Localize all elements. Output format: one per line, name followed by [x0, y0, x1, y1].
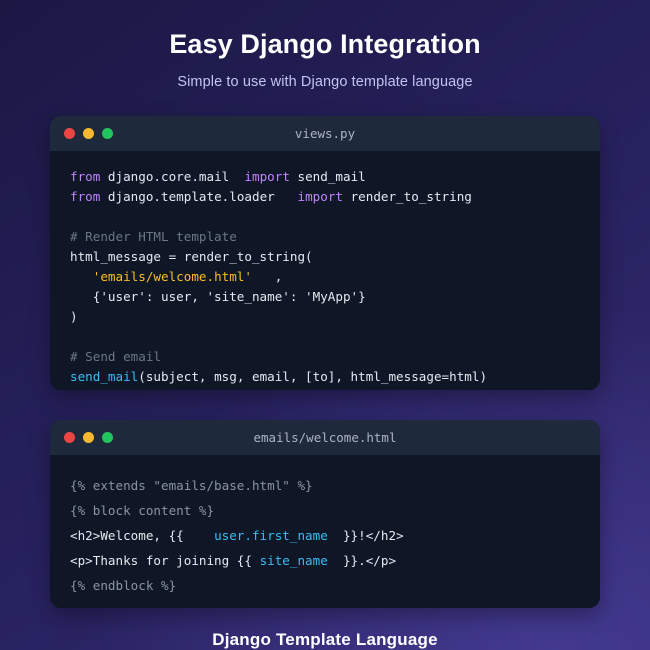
code-line: from django.core.mail import send_mail	[70, 167, 580, 187]
code-line: {'user': user, 'site_name': 'MyApp'}	[70, 287, 580, 307]
code-token: import	[244, 169, 290, 184]
code-line: <p>Thanks for joining {{ site_name }}.</…	[70, 548, 580, 573]
code-line: # Render HTML template	[70, 227, 580, 247]
page-title: Easy Django Integration	[169, 29, 480, 60]
code-token: user.first_name	[184, 528, 328, 543]
code-token: send_mail	[290, 169, 366, 184]
code-token: {% endblock %}	[70, 578, 176, 593]
code-token: {'user': user, 'site_name': 'MyApp'}	[70, 289, 366, 304]
code-token: render_to_string	[343, 189, 472, 204]
window-filename: emails/welcome.html	[50, 430, 600, 445]
code-token: # Send email	[70, 349, 161, 364]
code-line: from django.template.loader import rende…	[70, 187, 580, 207]
footer-caption: Django Template Language	[212, 630, 438, 650]
code-line: 'emails/welcome.html' ,	[70, 267, 580, 287]
code-window-template: emails/welcome.html {% extends "emails/b…	[50, 420, 600, 608]
code-token: 'emails/welcome.html'	[93, 269, 252, 284]
code-token: site_name	[260, 553, 328, 568]
code-token: send_mail	[70, 369, 138, 384]
code-token: html_message = render_to_string(	[70, 249, 313, 264]
close-dot[interactable]	[64, 128, 75, 139]
traffic-lights	[64, 128, 113, 139]
page-root: Easy Django Integration Simple to use wi…	[0, 0, 650, 650]
window-filename: views.py	[50, 126, 600, 141]
code-token: ,	[252, 269, 282, 284]
page-subtitle: Simple to use with Django template langu…	[177, 74, 472, 90]
code-token: )	[70, 309, 78, 324]
code-line: {% endblock %}	[70, 573, 580, 598]
code-line	[70, 207, 580, 227]
minimize-dot[interactable]	[83, 432, 94, 443]
window-titlebar: emails/welcome.html	[50, 420, 600, 455]
code-token: }}!</h2>	[328, 528, 404, 543]
code-line: <h2>Welcome, {{ user.first_name }}!</h2>	[70, 523, 580, 548]
code-content-template: {% extends "emails/base.html" %}{% block…	[50, 455, 600, 608]
code-token: from	[70, 189, 100, 204]
code-token: (subject, msg, email, [to], html_message…	[138, 369, 487, 384]
code-line: {% block content %}	[70, 498, 580, 523]
code-token: django.template.loader	[100, 189, 297, 204]
minimize-dot[interactable]	[83, 128, 94, 139]
traffic-lights	[64, 432, 113, 443]
window-titlebar: views.py	[50, 116, 600, 151]
code-token: from	[70, 169, 100, 184]
code-window-python: views.py from django.core.mail import se…	[50, 116, 600, 390]
code-token: <p>Thanks for joining {{	[70, 553, 260, 568]
maximize-dot[interactable]	[102, 432, 113, 443]
code-token: django.core.mail	[100, 169, 244, 184]
code-token	[70, 269, 93, 284]
code-line	[70, 327, 580, 347]
code-line: send_mail(subject, msg, email, [to], htm…	[70, 367, 580, 387]
code-token: }}.</p>	[328, 553, 396, 568]
code-line: {% extends "emails/base.html" %}	[70, 473, 580, 498]
code-token: # Render HTML template	[70, 229, 237, 244]
code-token: <h2>Welcome, {{	[70, 528, 184, 543]
code-content-python: from django.core.mail import send_mailfr…	[50, 151, 600, 390]
code-token: {% extends "emails/base.html" %}	[70, 478, 313, 493]
code-token: import	[297, 189, 343, 204]
code-line: )	[70, 307, 580, 327]
code-token: {% block content %}	[70, 503, 214, 518]
code-line: html_message = render_to_string(	[70, 247, 580, 267]
maximize-dot[interactable]	[102, 128, 113, 139]
code-line: # Send email	[70, 347, 580, 367]
close-dot[interactable]	[64, 432, 75, 443]
